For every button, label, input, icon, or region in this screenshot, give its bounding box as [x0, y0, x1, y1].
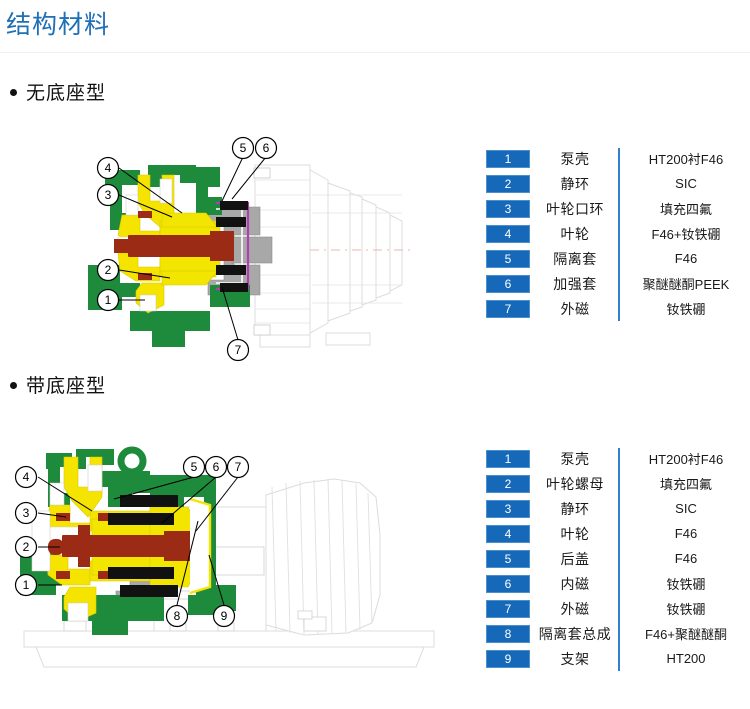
badge-cell: 5: [486, 550, 532, 568]
material-name: F46: [618, 251, 748, 266]
table-row: 1 泵壳 HT200衬F46: [486, 146, 748, 171]
spec-table-with-base: 1 泵壳 HT200衬F46 2 叶轮螺母 填充四氟 3 静环 SIC 4 叶轮…: [486, 446, 748, 671]
callout-2: 2: [105, 263, 112, 277]
callout-7: 7: [235, 460, 242, 474]
row-number-badge: 5: [486, 250, 530, 268]
part-name: 支架: [532, 649, 618, 669]
callout-7: 7: [235, 343, 242, 357]
pump-cross-section-without-base: 1 2 3 4 5 6 7: [10, 135, 480, 365]
badge-cell: 7: [486, 600, 532, 618]
table-row: 4 叶轮 F46: [486, 521, 748, 546]
row-number-badge: 1: [486, 150, 530, 168]
table-row: 2 叶轮螺母 填充四氟: [486, 471, 748, 496]
material-name: F46+钕铁硼: [618, 224, 748, 243]
callout-6: 6: [213, 460, 220, 474]
material-name: F46+聚醚醚酮: [618, 624, 748, 643]
badge-cell: 6: [486, 275, 532, 293]
row-number-badge: 7: [486, 600, 530, 618]
table-row: 3 叶轮口环 填充四氟: [486, 196, 748, 221]
part-name: 外磁: [532, 599, 618, 619]
section-label: 带底座型: [26, 376, 106, 397]
part-name: 静环: [532, 174, 618, 194]
callout-4: 4: [23, 470, 30, 484]
row-number-badge: 4: [486, 225, 530, 243]
section-header-with-base: 带底座型: [10, 375, 106, 399]
title-divider: [0, 52, 750, 53]
part-name: 叶轮: [532, 524, 618, 544]
row-number-badge: 1: [486, 450, 530, 468]
material-name: HT200衬F46: [618, 149, 748, 168]
part-name: 外磁: [532, 299, 618, 319]
material-name: SIC: [618, 176, 748, 191]
badge-cell: 5: [486, 250, 532, 268]
row-number-badge: 2: [486, 475, 530, 493]
callout-3: 3: [105, 188, 112, 202]
callout-6: 6: [263, 141, 270, 155]
callout-8: 8: [174, 609, 181, 623]
material-name: 钕铁硼: [618, 599, 748, 618]
section-header-no-base: 无底座型: [10, 82, 106, 106]
table-row: 1 泵壳 HT200衬F46: [486, 446, 748, 471]
badge-cell: 1: [486, 450, 532, 468]
callout-5: 5: [240, 141, 247, 155]
row-number-badge: 6: [486, 275, 530, 293]
material-name: 填充四氟: [618, 474, 748, 493]
row-number-badge: 2: [486, 175, 530, 193]
material-name: SIC: [618, 501, 748, 516]
material-name: F46: [618, 551, 748, 566]
material-name: 钕铁硼: [618, 299, 748, 318]
row-number-badge: 9: [486, 650, 530, 668]
badge-cell: 2: [486, 475, 532, 493]
part-name: 隔离套: [532, 249, 618, 269]
table-row: 6 加强套 聚醚醚酮PEEK: [486, 271, 748, 296]
bullet-icon: [10, 382, 17, 389]
material-name: 聚醚醚酮PEEK: [618, 274, 748, 293]
table-row: 4 叶轮 F46+钕铁硼: [486, 221, 748, 246]
part-name: 隔离套总成: [532, 624, 618, 644]
callout-9: 9: [221, 609, 228, 623]
table-row: 9 支架 HT200: [486, 646, 748, 671]
badge-cell: 9: [486, 650, 532, 668]
page-title: 结构材料: [6, 10, 110, 40]
callout-2: 2: [23, 540, 30, 554]
material-name: 填充四氟: [618, 199, 748, 218]
part-name: 加强套: [532, 274, 618, 294]
part-name: 泵壳: [532, 449, 618, 469]
part-name: 叶轮口环: [532, 199, 618, 219]
row-number-badge: 6: [486, 575, 530, 593]
material-name: 钕铁硼: [618, 574, 748, 593]
section-label: 无底座型: [26, 83, 106, 104]
spec-table-no-base: 1 泵壳 HT200衬F46 2 静环 SIC 3 叶轮口环 填充四氟 4 叶轮…: [486, 146, 748, 321]
badge-cell: 3: [486, 500, 532, 518]
badge-cell: 6: [486, 575, 532, 593]
callout-1: 1: [105, 293, 112, 307]
table-row: 8 隔离套总成 F46+聚醚醚酮: [486, 621, 748, 646]
row-number-badge: 3: [486, 500, 530, 518]
callout-4: 4: [105, 161, 112, 175]
table-row: 2 静环 SIC: [486, 171, 748, 196]
part-name: 叶轮螺母: [532, 474, 618, 494]
table-row: 7 外磁 钕铁硼: [486, 296, 748, 321]
badge-cell: 4: [486, 225, 532, 243]
badge-cell: 1: [486, 150, 532, 168]
part-name: 泵壳: [532, 149, 618, 169]
part-name: 静环: [532, 499, 618, 519]
part-name: 后盖: [532, 549, 618, 569]
callout-5: 5: [191, 460, 198, 474]
material-name: F46: [618, 526, 748, 541]
callout-1: 1: [23, 578, 30, 592]
table-row: 3 静环 SIC: [486, 496, 748, 521]
badge-cell: 2: [486, 175, 532, 193]
badge-cell: 7: [486, 300, 532, 318]
bullet-icon: [10, 89, 17, 96]
table-row: 7 外磁 钕铁硼: [486, 596, 748, 621]
badge-cell: 3: [486, 200, 532, 218]
row-number-badge: 7: [486, 300, 530, 318]
material-name: HT200衬F46: [618, 449, 748, 468]
badge-cell: 8: [486, 625, 532, 643]
part-name: 内磁: [532, 574, 618, 594]
callout-3: 3: [23, 506, 30, 520]
row-number-badge: 4: [486, 525, 530, 543]
table-row: 5 后盖 F46: [486, 546, 748, 571]
row-number-badge: 3: [486, 200, 530, 218]
table-row: 6 内磁 钕铁硼: [486, 571, 748, 596]
badge-cell: 4: [486, 525, 532, 543]
table-row: 5 隔离套 F46: [486, 246, 748, 271]
pump-cross-section-with-base: 1 2 3 4 5 6 7 8 9: [4, 435, 480, 685]
row-number-badge: 5: [486, 550, 530, 568]
material-name: HT200: [618, 651, 748, 666]
part-name: 叶轮: [532, 224, 618, 244]
row-number-badge: 8: [486, 625, 530, 643]
